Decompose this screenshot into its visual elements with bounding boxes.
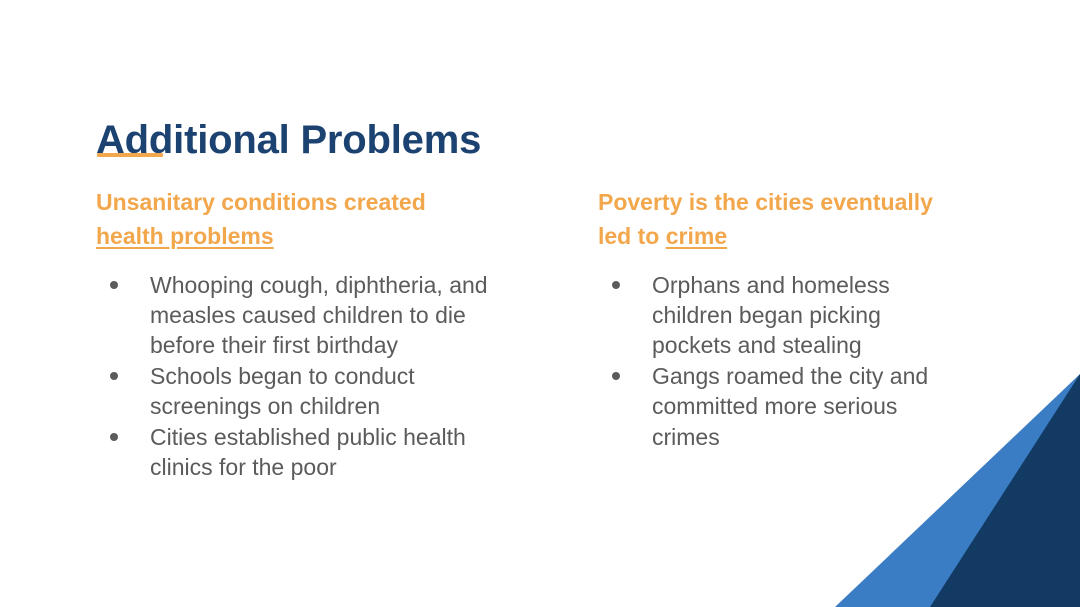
list-item-text: Gangs roamed the city and committed more…: [652, 363, 928, 450]
list-item-text: Cities established public health clinics…: [150, 424, 466, 480]
column-heading-right: Poverty is the cities eventually led to …: [598, 186, 958, 254]
column-heading-right-emphasis: crime: [666, 223, 727, 249]
list-item: Cities established public health clinics…: [96, 422, 496, 483]
title-accent-rule: [97, 153, 163, 157]
list-item: Gangs roamed the city and committed more…: [598, 361, 958, 452]
bullet-list-right: Orphans and homeless children began pick…: [598, 270, 958, 452]
list-item: Whooping cough, diphtheria, and measles …: [96, 270, 496, 361]
list-item-text: Whooping cough, diphtheria, and measles …: [150, 272, 488, 359]
column-heading-right-prefix: Poverty is the cities eventually led to: [598, 189, 933, 249]
list-item-text: Schools began to conduct screenings on c…: [150, 363, 415, 419]
column-heading-left-emphasis: health problems: [96, 223, 274, 249]
bullet-dot-icon: [110, 281, 118, 289]
content-column-right: Poverty is the cities eventually led to …: [598, 186, 958, 452]
content-column-left: Unsanitary conditions created health pro…: [96, 186, 496, 482]
bullet-dot-icon: [612, 372, 620, 380]
list-item: Schools began to conduct screenings on c…: [96, 361, 496, 422]
column-heading-left-prefix: Unsanitary conditions created: [96, 189, 426, 215]
bullet-dot-icon: [110, 433, 118, 441]
column-heading-left: Unsanitary conditions created health pro…: [96, 186, 496, 254]
slide-canvas: Additional Problems Unsanitary condition…: [0, 0, 1080, 607]
list-item-text: Orphans and homeless children began pick…: [652, 272, 890, 359]
list-item: Orphans and homeless children began pick…: [598, 270, 958, 361]
bullet-dot-icon: [612, 281, 620, 289]
bullet-dot-icon: [110, 372, 118, 380]
bullet-list-left: Whooping cough, diphtheria, and measles …: [96, 270, 496, 483]
